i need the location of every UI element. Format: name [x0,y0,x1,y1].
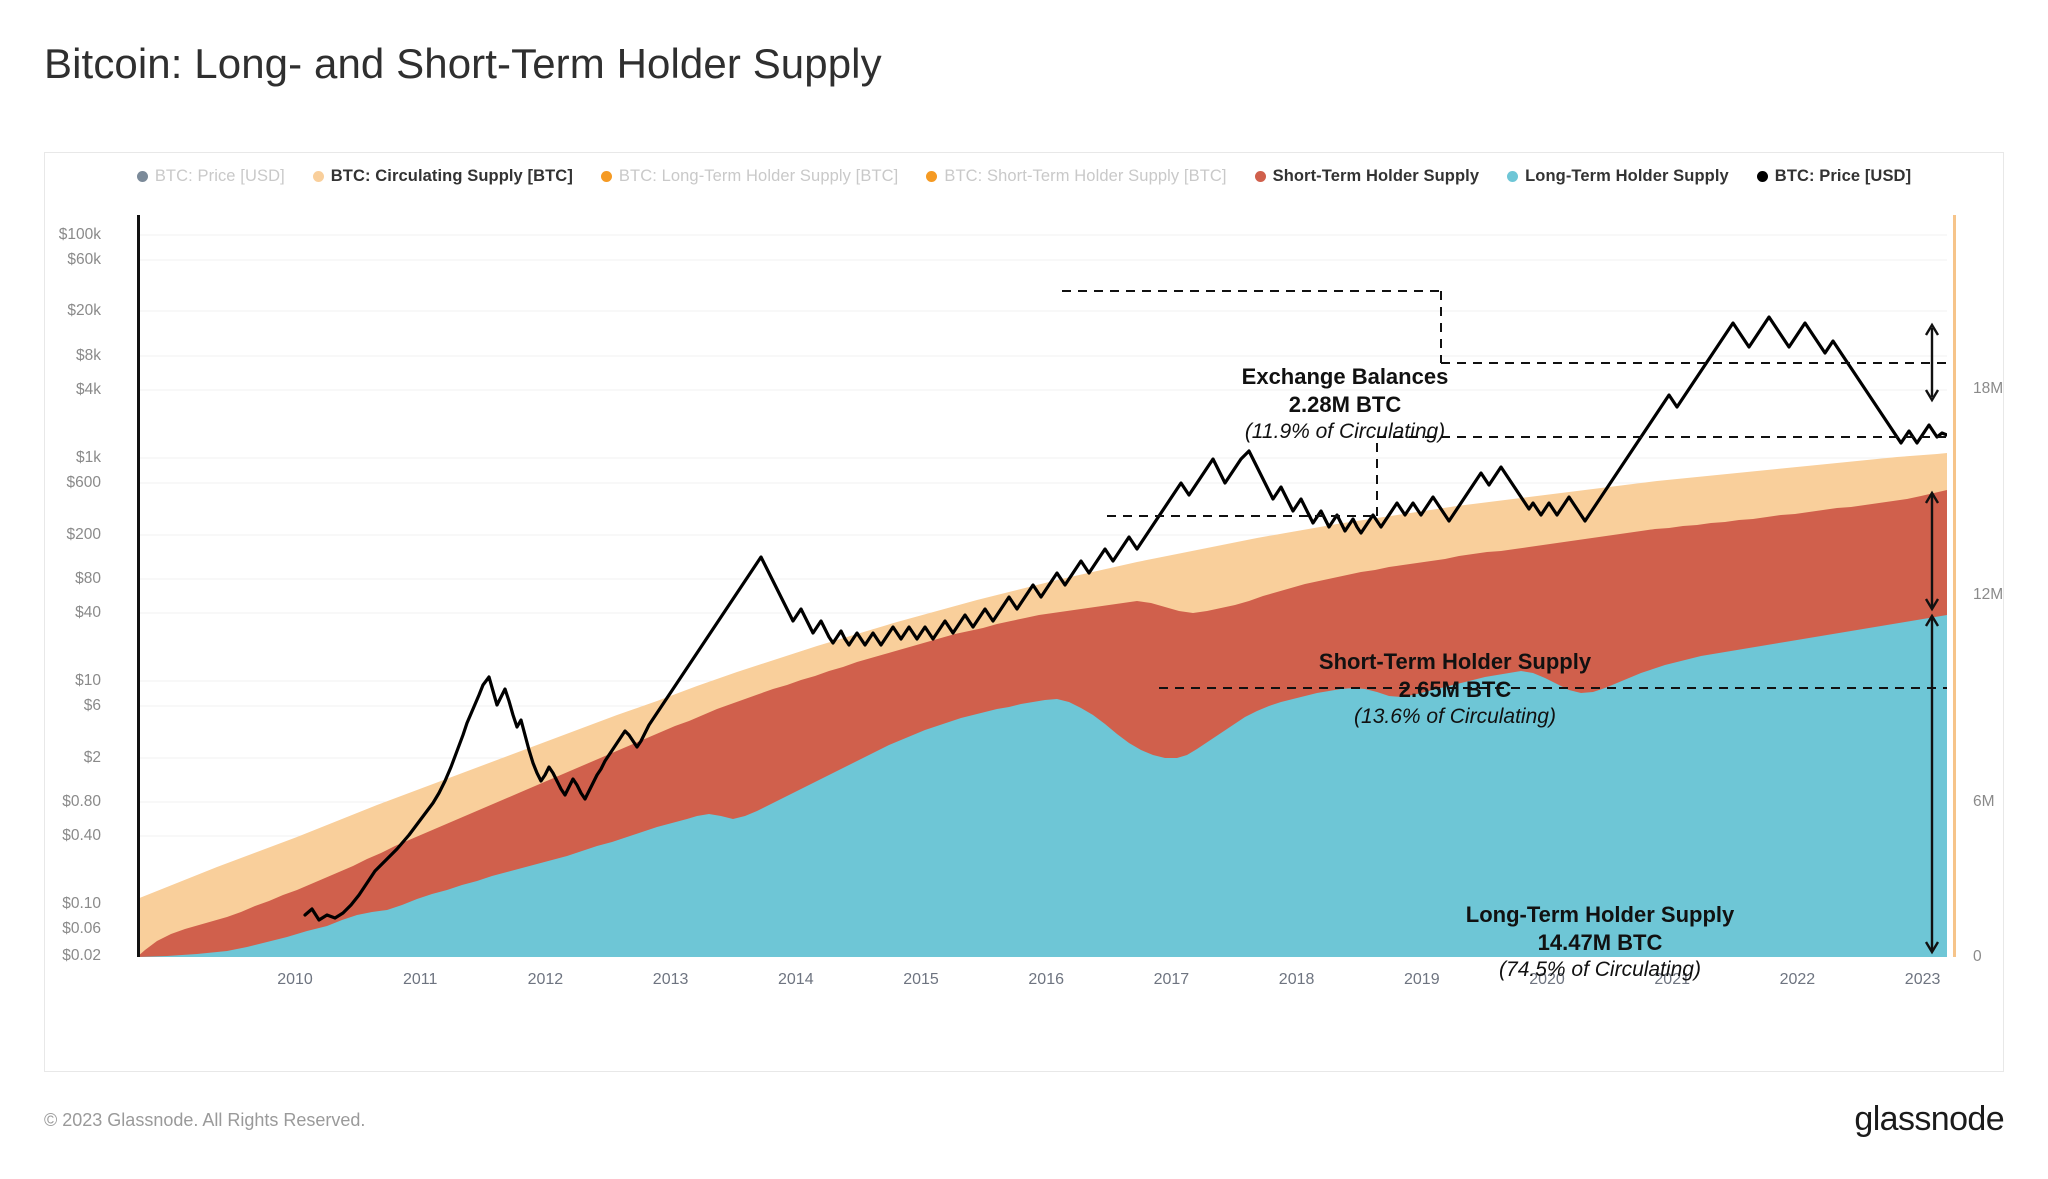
legend-dot-icon [1507,171,1518,182]
y-axis-right-tick-label: 18M [1973,380,2003,398]
legend-dot-icon [926,171,937,182]
legend-label: BTC: Long-Term Holder Supply [BTC] [619,167,898,186]
legend-label: BTC: Circulating Supply [BTC] [331,167,573,186]
y-axis-left-tick-label: $4k [76,381,101,399]
legend-item-0[interactable]: BTC: Price [USD] [137,167,285,186]
annotation-short-term-holder-supply: Short-Term Holder Supply 2.65M BTC (13.6… [1245,648,1665,731]
chart-legend: BTC: Price [USD]BTC: Circulating Supply … [45,167,2003,186]
y-axis-left-tick-label: $40 [75,604,101,622]
legend-item-3[interactable]: BTC: Short-Term Holder Supply [BTC] [926,167,1226,186]
x-axis-tick-label: 2016 [1028,971,1064,989]
legend-dot-icon [1255,171,1266,182]
legend-label: BTC: Price [USD] [1775,167,1911,186]
annotation-exchange-balances: Exchange Balances 2.28M BTC (11.9% of Ci… [1155,363,1535,446]
x-axis-tick-label: 2013 [653,971,689,989]
y-axis-left-tick-label: $20k [67,302,101,320]
legend-item-4[interactable]: Short-Term Holder Supply [1255,167,1480,186]
legend-dot-icon [601,171,612,182]
y-axis-right-tick-label: 6M [1973,793,1995,811]
y-axis-left-tick-label: $1k [76,449,101,467]
annotation-long-term-holder-supply: Long-Term Holder Supply 14.47M BTC (74.5… [1385,901,1815,984]
legend-item-5[interactable]: Long-Term Holder Supply [1507,167,1729,186]
x-axis-tick-label: 2014 [778,971,814,989]
y-axis-right-tick-label: 12M [1973,586,2003,604]
plot-canvas [137,215,1947,957]
y-axis-left-tick-label: $0.06 [62,920,101,938]
legend-label: BTC: Short-Term Holder Supply [BTC] [944,167,1226,186]
y-axis-right-tick-label: 0 [1973,948,1982,966]
x-axis-tick-label: 2015 [903,971,939,989]
x-axis-tick-label: 2011 [403,971,437,989]
chart-card: BTC: Price [USD]BTC: Circulating Supply … [44,152,2004,1072]
y-axis-left-tick-label: $60k [67,251,101,269]
annotation-pct: (74.5% of Circulating) [1385,957,1815,984]
y-axis-left-tick-label: $0.40 [62,827,101,845]
annotation-pct: (13.6% of Circulating) [1245,704,1665,731]
y-axis-left-tick-label: $0.80 [62,793,101,811]
y-axis-left-line [137,215,140,957]
annotation-value: 2.28M BTC [1155,391,1535,419]
annotation-pct: (11.9% of Circulating) [1155,419,1535,446]
x-axis-tick-label: 2010 [277,971,313,989]
chart-page: Bitcoin: Long- and Short-Term Holder Sup… [0,0,2048,1179]
legend-label: BTC: Price [USD] [155,167,285,186]
annotation-title: Long-Term Holder Supply [1385,901,1815,929]
legend-item-2[interactable]: BTC: Long-Term Holder Supply [BTC] [601,167,898,186]
x-axis-tick-label: 2017 [1154,971,1190,989]
y-axis-left-tick-label: $10 [75,672,101,690]
annotation-value: 2.65M BTC [1245,676,1665,704]
legend-label: Long-Term Holder Supply [1525,167,1729,186]
legend-dot-icon [137,171,148,182]
y-axis-left-tick-label: $0.10 [62,895,101,913]
y-axis-left-tick-label: $100k [59,226,101,244]
page-title: Bitcoin: Long- and Short-Term Holder Sup… [44,40,882,88]
x-axis-tick-label: 2012 [528,971,564,989]
plot-area [137,215,1947,957]
y-axis-left-tick-label: $8k [76,347,101,365]
legend-label: Short-Term Holder Supply [1273,167,1480,186]
legend-dot-icon [313,171,324,182]
legend-item-1[interactable]: BTC: Circulating Supply [BTC] [313,167,573,186]
copyright-text: © 2023 Glassnode. All Rights Reserved. [44,1110,365,1131]
y-axis-left-tick-label: $0.02 [62,947,101,965]
y-axis-left-tick-label: $600 [67,474,101,492]
y-axis-left-tick-label: $200 [67,526,101,544]
annotation-title: Exchange Balances [1155,363,1535,391]
annotation-value: 14.47M BTC [1385,929,1815,957]
chart-svg [137,215,1947,957]
y-axis-right-line [1953,215,1956,957]
x-axis-tick-label: 2023 [1905,971,1941,989]
x-axis-tick-label: 2018 [1279,971,1315,989]
y-axis-left-tick-label: $80 [75,570,101,588]
legend-item-6[interactable]: BTC: Price [USD] [1757,167,1911,186]
brand-logo: glassnode [1854,1100,2004,1139]
y-axis-left-tick-label: $6 [84,697,101,715]
legend-dot-icon [1757,171,1768,182]
y-axis-left-tick-label: $2 [84,749,101,767]
annotation-title: Short-Term Holder Supply [1245,648,1665,676]
